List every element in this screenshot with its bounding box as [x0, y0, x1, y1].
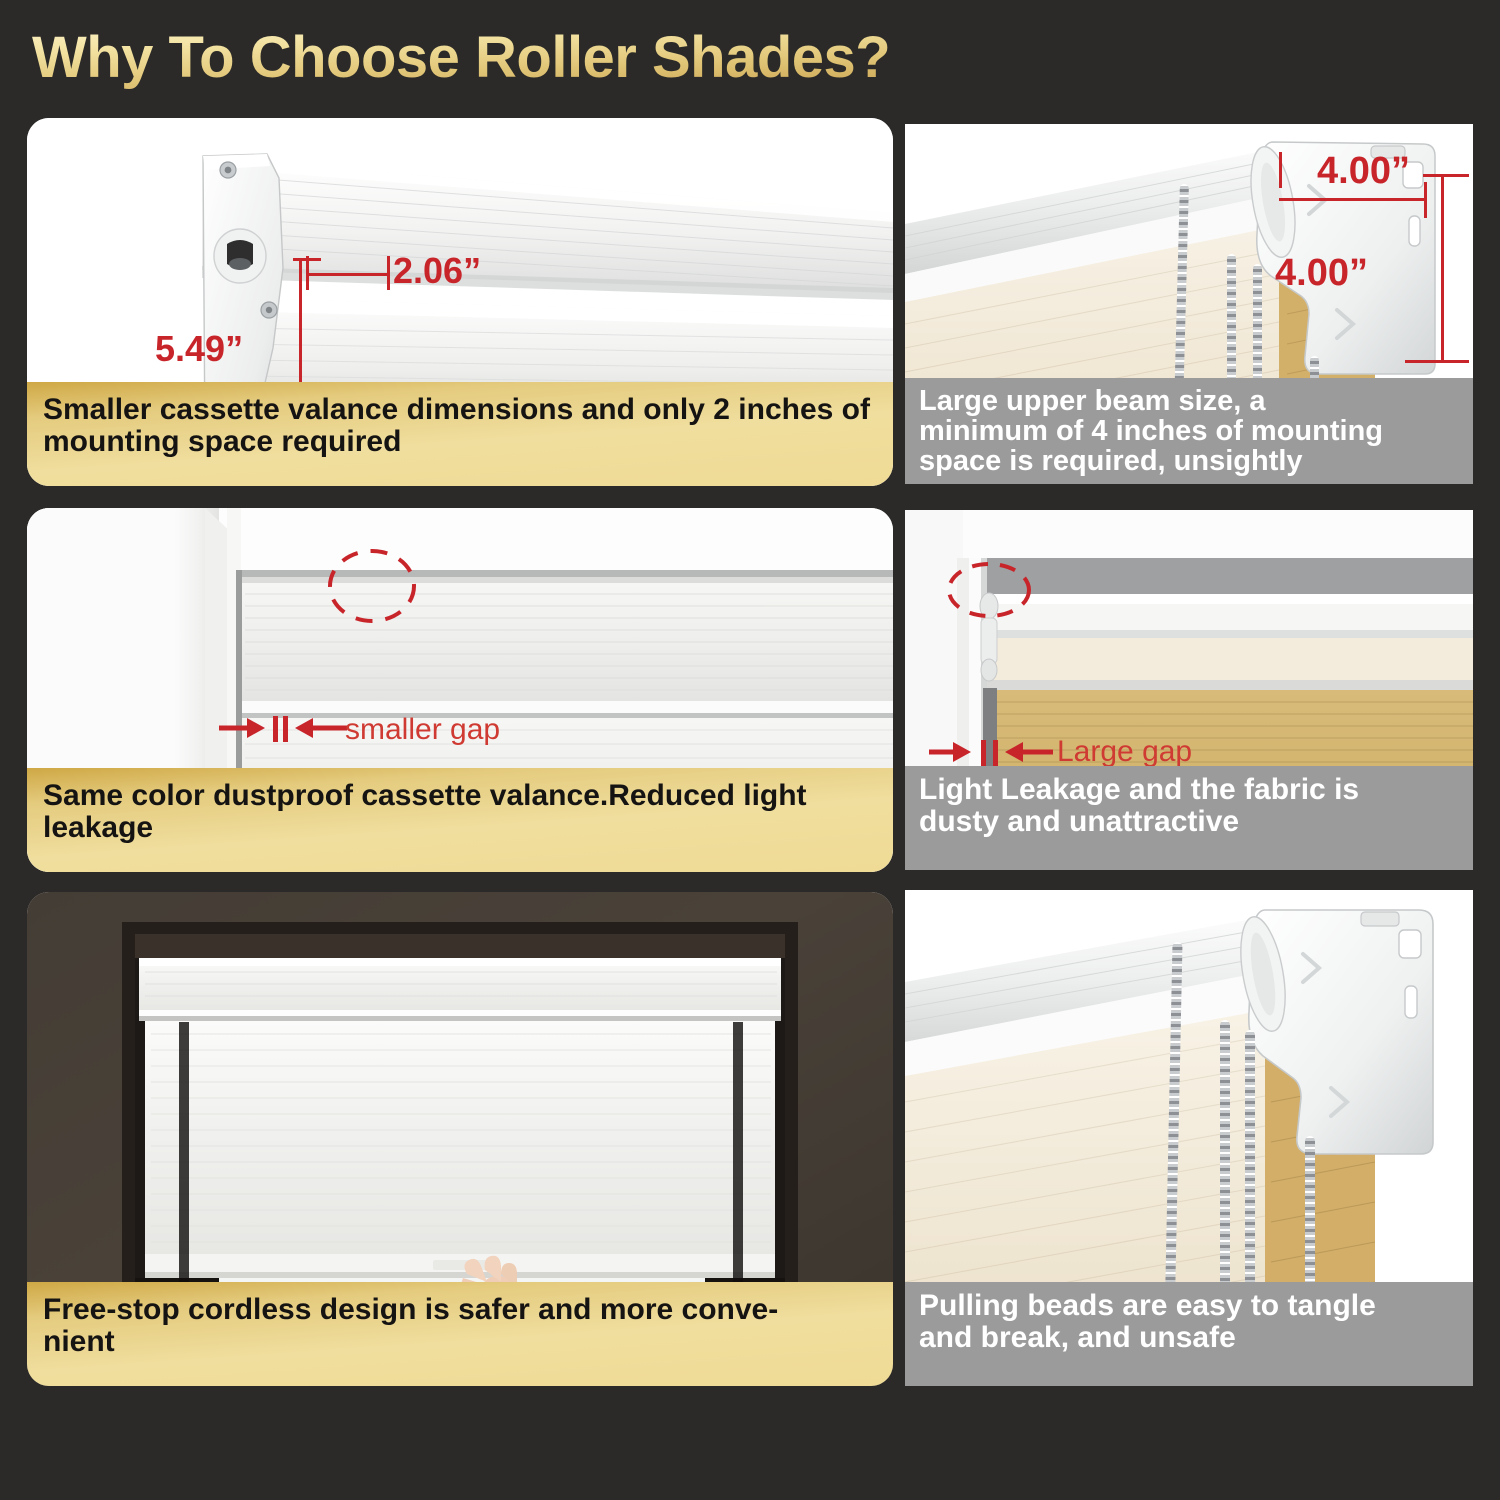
panel-bottom-right: Pulling beads are easy to tangle and bre…: [905, 890, 1473, 1386]
panel-top-right: 4.00” 4.00” Large upper beam size, a min…: [905, 124, 1473, 484]
large-gap-label: Large gap: [1057, 735, 1192, 769]
height-dimension-label: 5.49”: [155, 328, 243, 370]
page-title: Why To Choose Roller Shades?: [32, 24, 890, 91]
caption-middle-left: Same color dustproof cassette valance.Re…: [27, 768, 893, 872]
caption-top-left: Smaller cassette valance dimensions and …: [27, 382, 893, 486]
width-dim-line: [306, 273, 390, 276]
height-dim-tick-top: [293, 258, 321, 261]
caption-text: Smaller cassette valance dimensions and …: [43, 394, 877, 458]
caption-bottom-left: Free-stop cordless design is safer and m…: [27, 1282, 893, 1386]
beam-width-tick-right: [1424, 182, 1427, 218]
beam-height-tick-bottom: [1405, 360, 1469, 363]
beam-width-line: [1279, 198, 1427, 201]
caption-text: Light Leakage and the fabric is dusty an…: [919, 774, 1459, 838]
beam-height-tick-top: [1423, 174, 1469, 177]
caption-text: Free-stop cordless design is safer and m…: [43, 1294, 877, 1358]
panel-middle-right: Large gap Light Leakage and the fabric i…: [905, 510, 1473, 870]
beam-width-tick-left: [1279, 152, 1282, 188]
caption-text: Pulling beads are easy to tangle and bre…: [919, 1290, 1459, 1354]
caption-text: Large upper beam size, a minimum of 4 in…: [919, 386, 1459, 476]
infographic-page: Why To Choose Roller Shades?: [0, 0, 1500, 1500]
caption-text: Same color dustproof cassette valance.Re…: [43, 780, 877, 844]
caption-middle-right: Light Leakage and the fabric is dusty an…: [905, 766, 1473, 870]
width-dim-tick-right: [387, 256, 390, 290]
panel-middle-left: smaller gap Same color dustproof cassett…: [27, 508, 893, 872]
caption-bottom-right: Pulling beads are easy to tangle and bre…: [905, 1282, 1473, 1386]
panel-top-left: 2.06” 5.49” Smaller cassette valance dim…: [27, 118, 893, 486]
width-dimension-label: 2.06”: [393, 250, 481, 292]
smaller-gap-arrows: [217, 708, 357, 748]
beam-height-label: 4.00”: [1275, 252, 1368, 295]
beam-height-line: [1441, 174, 1444, 362]
beam-width-label: 4.00”: [1317, 150, 1410, 193]
panel-bottom-left: Free-stop cordless design is safer and m…: [27, 892, 893, 1386]
caption-top-right: Large upper beam size, a minimum of 4 in…: [905, 378, 1473, 484]
smaller-gap-label: smaller gap: [345, 713, 500, 747]
